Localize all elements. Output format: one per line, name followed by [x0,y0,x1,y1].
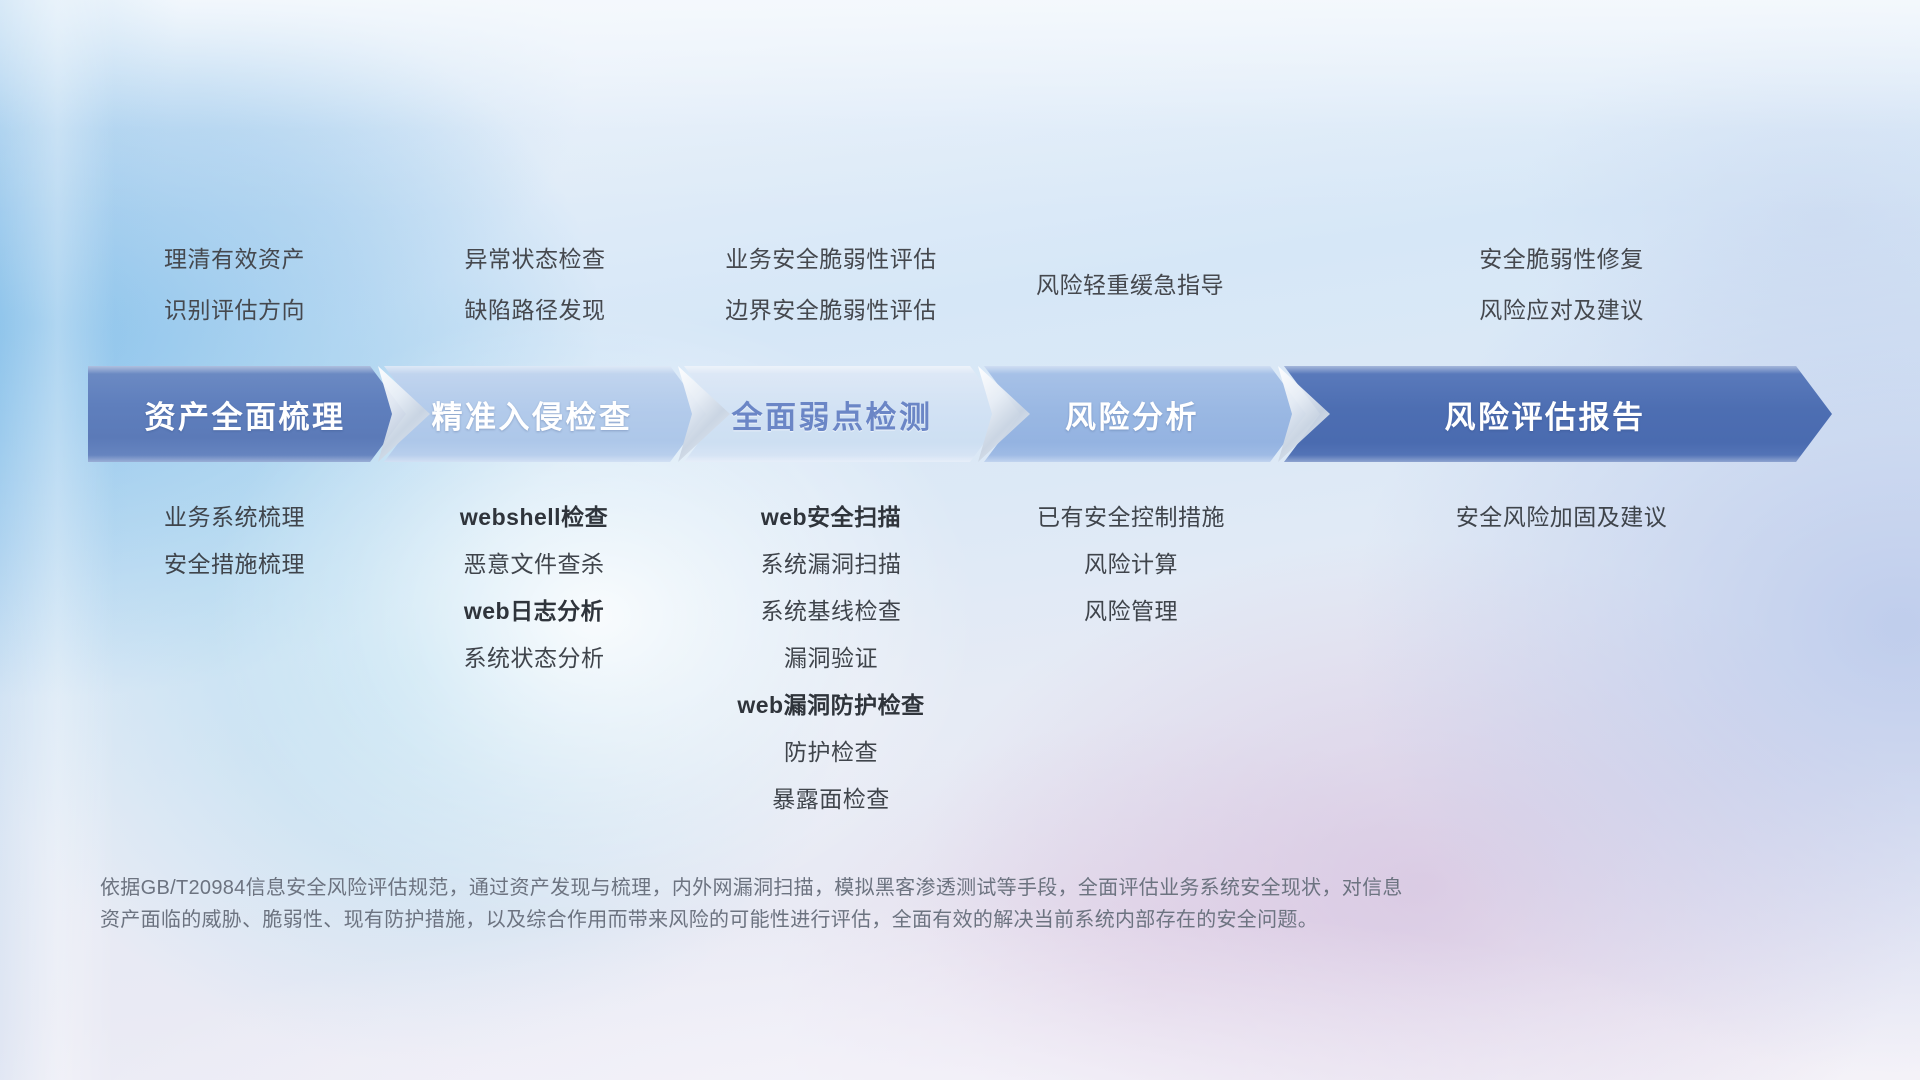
note-item: 暴露面检查 [772,776,890,823]
stage-label: 全面弱点检测 [684,392,1006,437]
note-item: 安全措施梳理 [164,541,305,588]
note-item: webshell检查 [460,494,608,541]
footer-description: 依据GB/T20984信息安全风险评估规范，通过资产发现与梳理，内外网漏洞扫描，… [100,872,1660,936]
note-item: 安全风险加固及建议 [1456,494,1668,541]
bottom-notes-intrusion-check: webshell检查 恶意文件查杀 web日志分析 系统状态分析 [389,494,679,682]
note-item: web安全扫描 [761,494,901,541]
note-item: 业务系统梳理 [164,494,305,541]
note-item: 边界安全脆弱性评估 [725,285,937,336]
bottom-notes-risk-analysis: 已有安全控制措施 风险计算 风险管理 [986,494,1276,635]
note-item: 系统基线检查 [761,588,902,635]
bottom-notes-risk-report: 安全风险加固及建议 [1277,494,1846,541]
note-item: 业务安全脆弱性评估 [725,234,937,285]
note-item: 风险管理 [1084,588,1178,635]
note-item: web漏洞防护检查 [737,682,924,729]
stage-label: 风险评估报告 [1284,392,1832,437]
note-item: 异常状态检查 [465,234,606,285]
stage-label: 精准入侵检查 [384,392,706,437]
note-item: 风险轻重缓急指导 [1036,260,1224,311]
note-item: 恶意文件查杀 [464,541,605,588]
diagram-canvas: 理清有效资产 识别评估方向 异常状态检查 缺陷路径发现 业务安全脆弱性评估 边界… [0,0,1920,1080]
top-notes-intrusion-check: 异常状态检查 缺陷路径发现 [390,234,680,336]
note-item: 风险计算 [1084,541,1178,588]
top-notes-risk-report: 安全脆弱性修复 风险应对及建议 [1277,234,1846,336]
note-item: 识别评估方向 [164,285,305,336]
stage-arrow-intrusion-check[interactable]: 精准入侵检查 [384,366,706,462]
stage-arrow-weakness-detection[interactable]: 全面弱点检测 [684,366,1006,462]
bottom-notes-asset-inventory: 业务系统梳理 安全措施梳理 [82,494,387,588]
stage-arrow-risk-report[interactable]: 风险评估报告 [1284,366,1832,462]
stage-arrow-risk-analysis[interactable]: 风险分析 [984,366,1306,462]
stage-arrow-asset-inventory[interactable]: 资产全面梳理 [88,366,406,462]
bottom-notes-weakness-detection: web安全扫描 系统漏洞扫描 系统基线检查 漏洞验证 web漏洞防护检查 防护检… [686,494,976,823]
top-notes-row: 理清有效资产 识别评估方向 异常状态检查 缺陷路径发现 业务安全脆弱性评估 边界… [88,234,1832,336]
stage-label: 风险分析 [984,392,1306,437]
footer-line: 资产面临的威胁、脆弱性、现有防护措施，以及综合作用而带来风险的可能性进行评估，全… [100,904,1660,936]
note-item: 防护检查 [784,729,878,776]
top-notes-risk-analysis: 风险轻重缓急指导 [985,234,1275,336]
note-item: 系统漏洞扫描 [761,541,902,588]
stage-label: 资产全面梳理 [88,392,406,437]
note-item: 已有安全控制措施 [1037,494,1225,541]
note-item: 漏洞验证 [784,635,878,682]
note-item: 系统状态分析 [464,635,605,682]
top-notes-weakness-detection: 业务安全脆弱性评估 边界安全脆弱性评估 [686,234,976,336]
top-notes-asset-inventory: 理清有效资产 识别评估方向 [82,234,387,336]
footer-line: 依据GB/T20984信息安全风险评估规范，通过资产发现与梳理，内外网漏洞扫描，… [100,872,1660,904]
note-item: 风险应对及建议 [1479,285,1644,336]
note-item: 理清有效资产 [164,234,305,285]
note-item: 缺陷路径发现 [465,285,606,336]
process-flow-band: 资产全面梳理 精准入侵检查 全面弱点检测 风险分析 风险评估报告 [88,366,1832,462]
note-item: web日志分析 [464,588,604,635]
note-item: 安全脆弱性修复 [1479,234,1644,285]
bottom-notes-row: 业务系统梳理 安全措施梳理 webshell检查 恶意文件查杀 web日志分析 … [88,494,1832,823]
